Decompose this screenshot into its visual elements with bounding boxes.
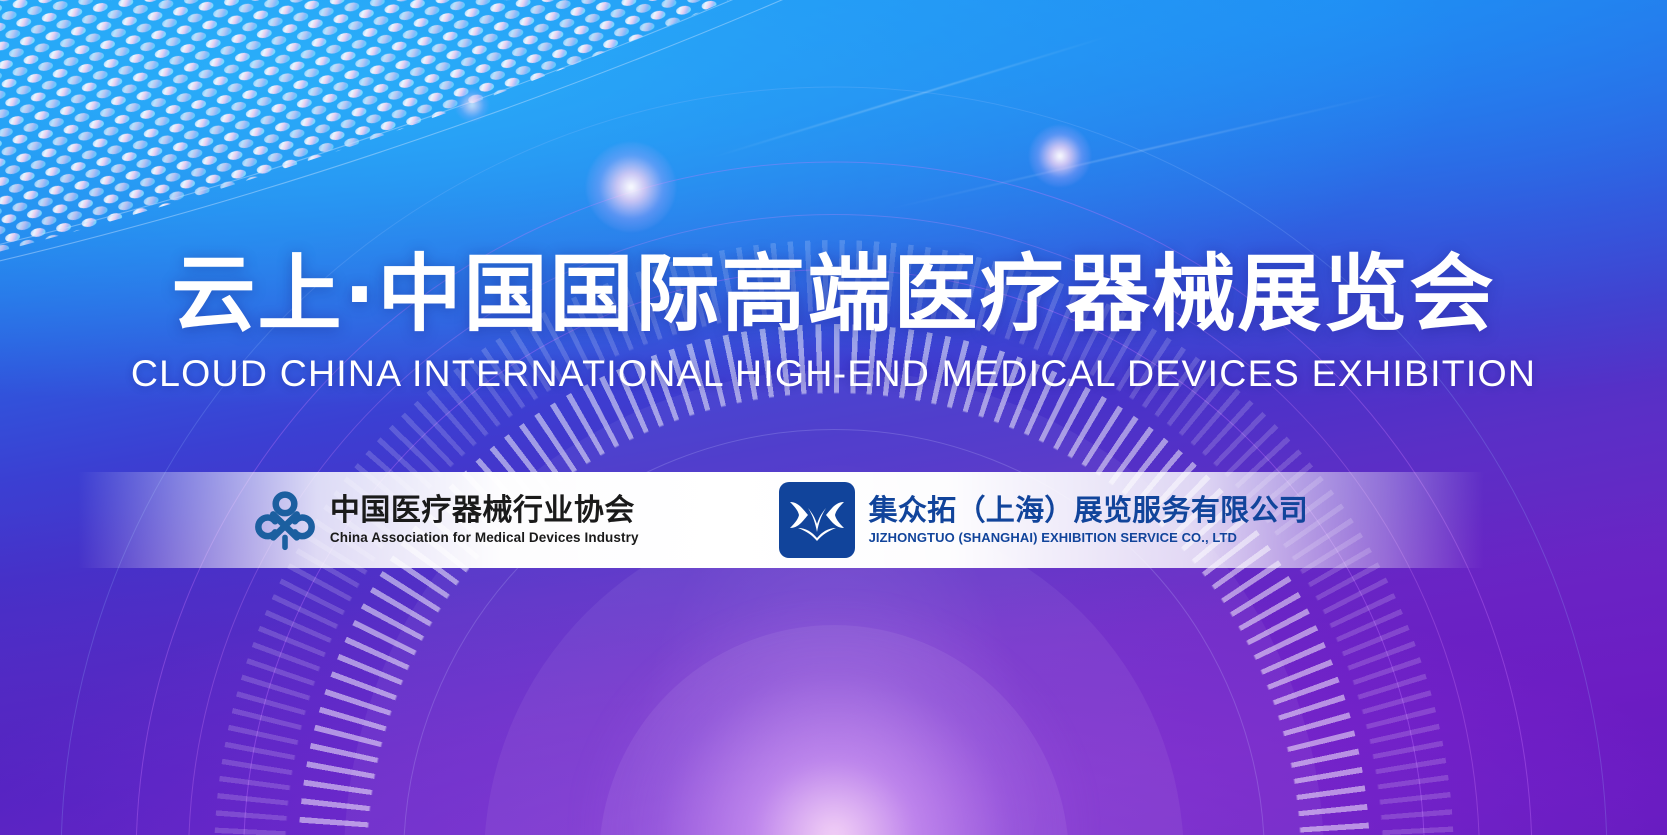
bottom-center-glow: [574, 595, 1094, 835]
camdi-name-chinese: 中国医疗器械行业协会: [330, 495, 639, 527]
camdi-trefoil-logo-icon: [254, 489, 316, 551]
banner-artwork: 云上·中国国际高端医疗器械展览会 CLOUD CHINA INTERNATION…: [0, 0, 1667, 835]
page-title-chinese: 云上·中国国际高端医疗器械展览会: [0, 252, 1667, 338]
jizhongtuo-name-english: JIZHONGTUO (SHANGHAI) EXHIBITION SERVICE…: [869, 530, 1309, 545]
jizhongtuo-name-chinese: 集众拓（上海）展览服务有限公司: [869, 495, 1309, 527]
camdi-name-english: China Association for Medical Devices In…: [330, 530, 639, 545]
glow-orb-left: [586, 142, 676, 232]
sponsor-logo-bar: 中国医疗器械行业协会 China Association for Medical…: [78, 472, 1484, 568]
title-block: 云上·中国国际高端医疗器械展览会 CLOUD CHINA INTERNATION…: [0, 252, 1667, 395]
logo-jizhongtuo[interactable]: 集众拓（上海）展览服务有限公司 JIZHONGTUO (SHANGHAI) EX…: [779, 482, 1309, 558]
camdi-text-block: 中国医疗器械行业协会 China Association for Medical…: [330, 495, 639, 545]
page-title-english: CLOUD CHINA INTERNATIONAL HIGH-END MEDIC…: [0, 352, 1667, 395]
glow-orb-right: [1029, 125, 1091, 187]
glow-orb-small: [455, 88, 489, 122]
logo-camdi[interactable]: 中国医疗器械行业协会 China Association for Medical…: [254, 489, 639, 551]
jizhongtuo-square-logo-icon: [779, 482, 855, 558]
jizhongtuo-text-block: 集众拓（上海）展览服务有限公司 JIZHONGTUO (SHANGHAI) EX…: [869, 495, 1309, 546]
